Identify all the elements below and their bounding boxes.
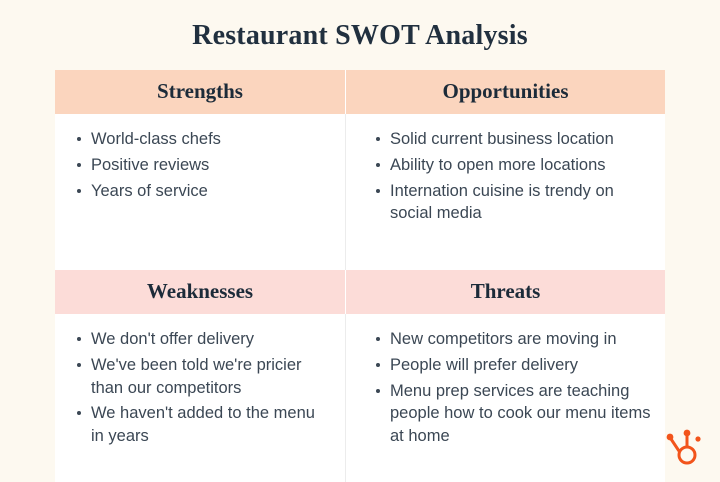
list-item: We don't offer delivery (91, 328, 331, 351)
list-item: People will prefer delivery (390, 354, 651, 377)
list-item: Solid current business location (390, 128, 651, 151)
weaknesses-list: We don't offer delivery We've been told … (65, 328, 331, 448)
list-item: We've been told we're pricier than our c… (91, 354, 331, 400)
threats-list: New competitors are moving in People wil… (364, 328, 651, 448)
quadrant-body-strengths: World-class chefs Positive reviews Years… (55, 114, 345, 270)
list-item: Years of service (91, 180, 331, 203)
list-item: New competitors are moving in (390, 328, 651, 351)
opportunities-list: Solid current business location Ability … (364, 128, 651, 225)
list-item: We haven't added to the menu in years (91, 402, 331, 448)
strengths-list: World-class chefs Positive reviews Years… (65, 128, 331, 202)
quadrant-body-threats: New competitors are moving in People wil… (346, 314, 665, 482)
quadrant-body-opportunities: Solid current business location Ability … (346, 114, 665, 270)
quadrant-body-weaknesses: We don't offer delivery We've been told … (55, 314, 345, 482)
list-item: Menu prep services are teaching people h… (390, 380, 651, 448)
quadrant-header-threats: Threats (346, 270, 665, 314)
quadrant-header-weaknesses: Weaknesses (55, 270, 345, 314)
swot-matrix: Strengths Opportunities World-class chef… (55, 70, 665, 428)
list-item: World-class chefs (91, 128, 331, 151)
hubspot-logo-icon (662, 426, 706, 470)
quadrant-header-opportunities: Opportunities (346, 70, 665, 114)
quadrant-header-strengths: Strengths (55, 70, 345, 114)
list-item: Internation cuisine is trendy on social … (390, 180, 651, 226)
page-title: Restaurant SWOT Analysis (0, 20, 720, 52)
list-item: Positive reviews (91, 154, 331, 177)
list-item: Ability to open more locations (390, 154, 651, 177)
